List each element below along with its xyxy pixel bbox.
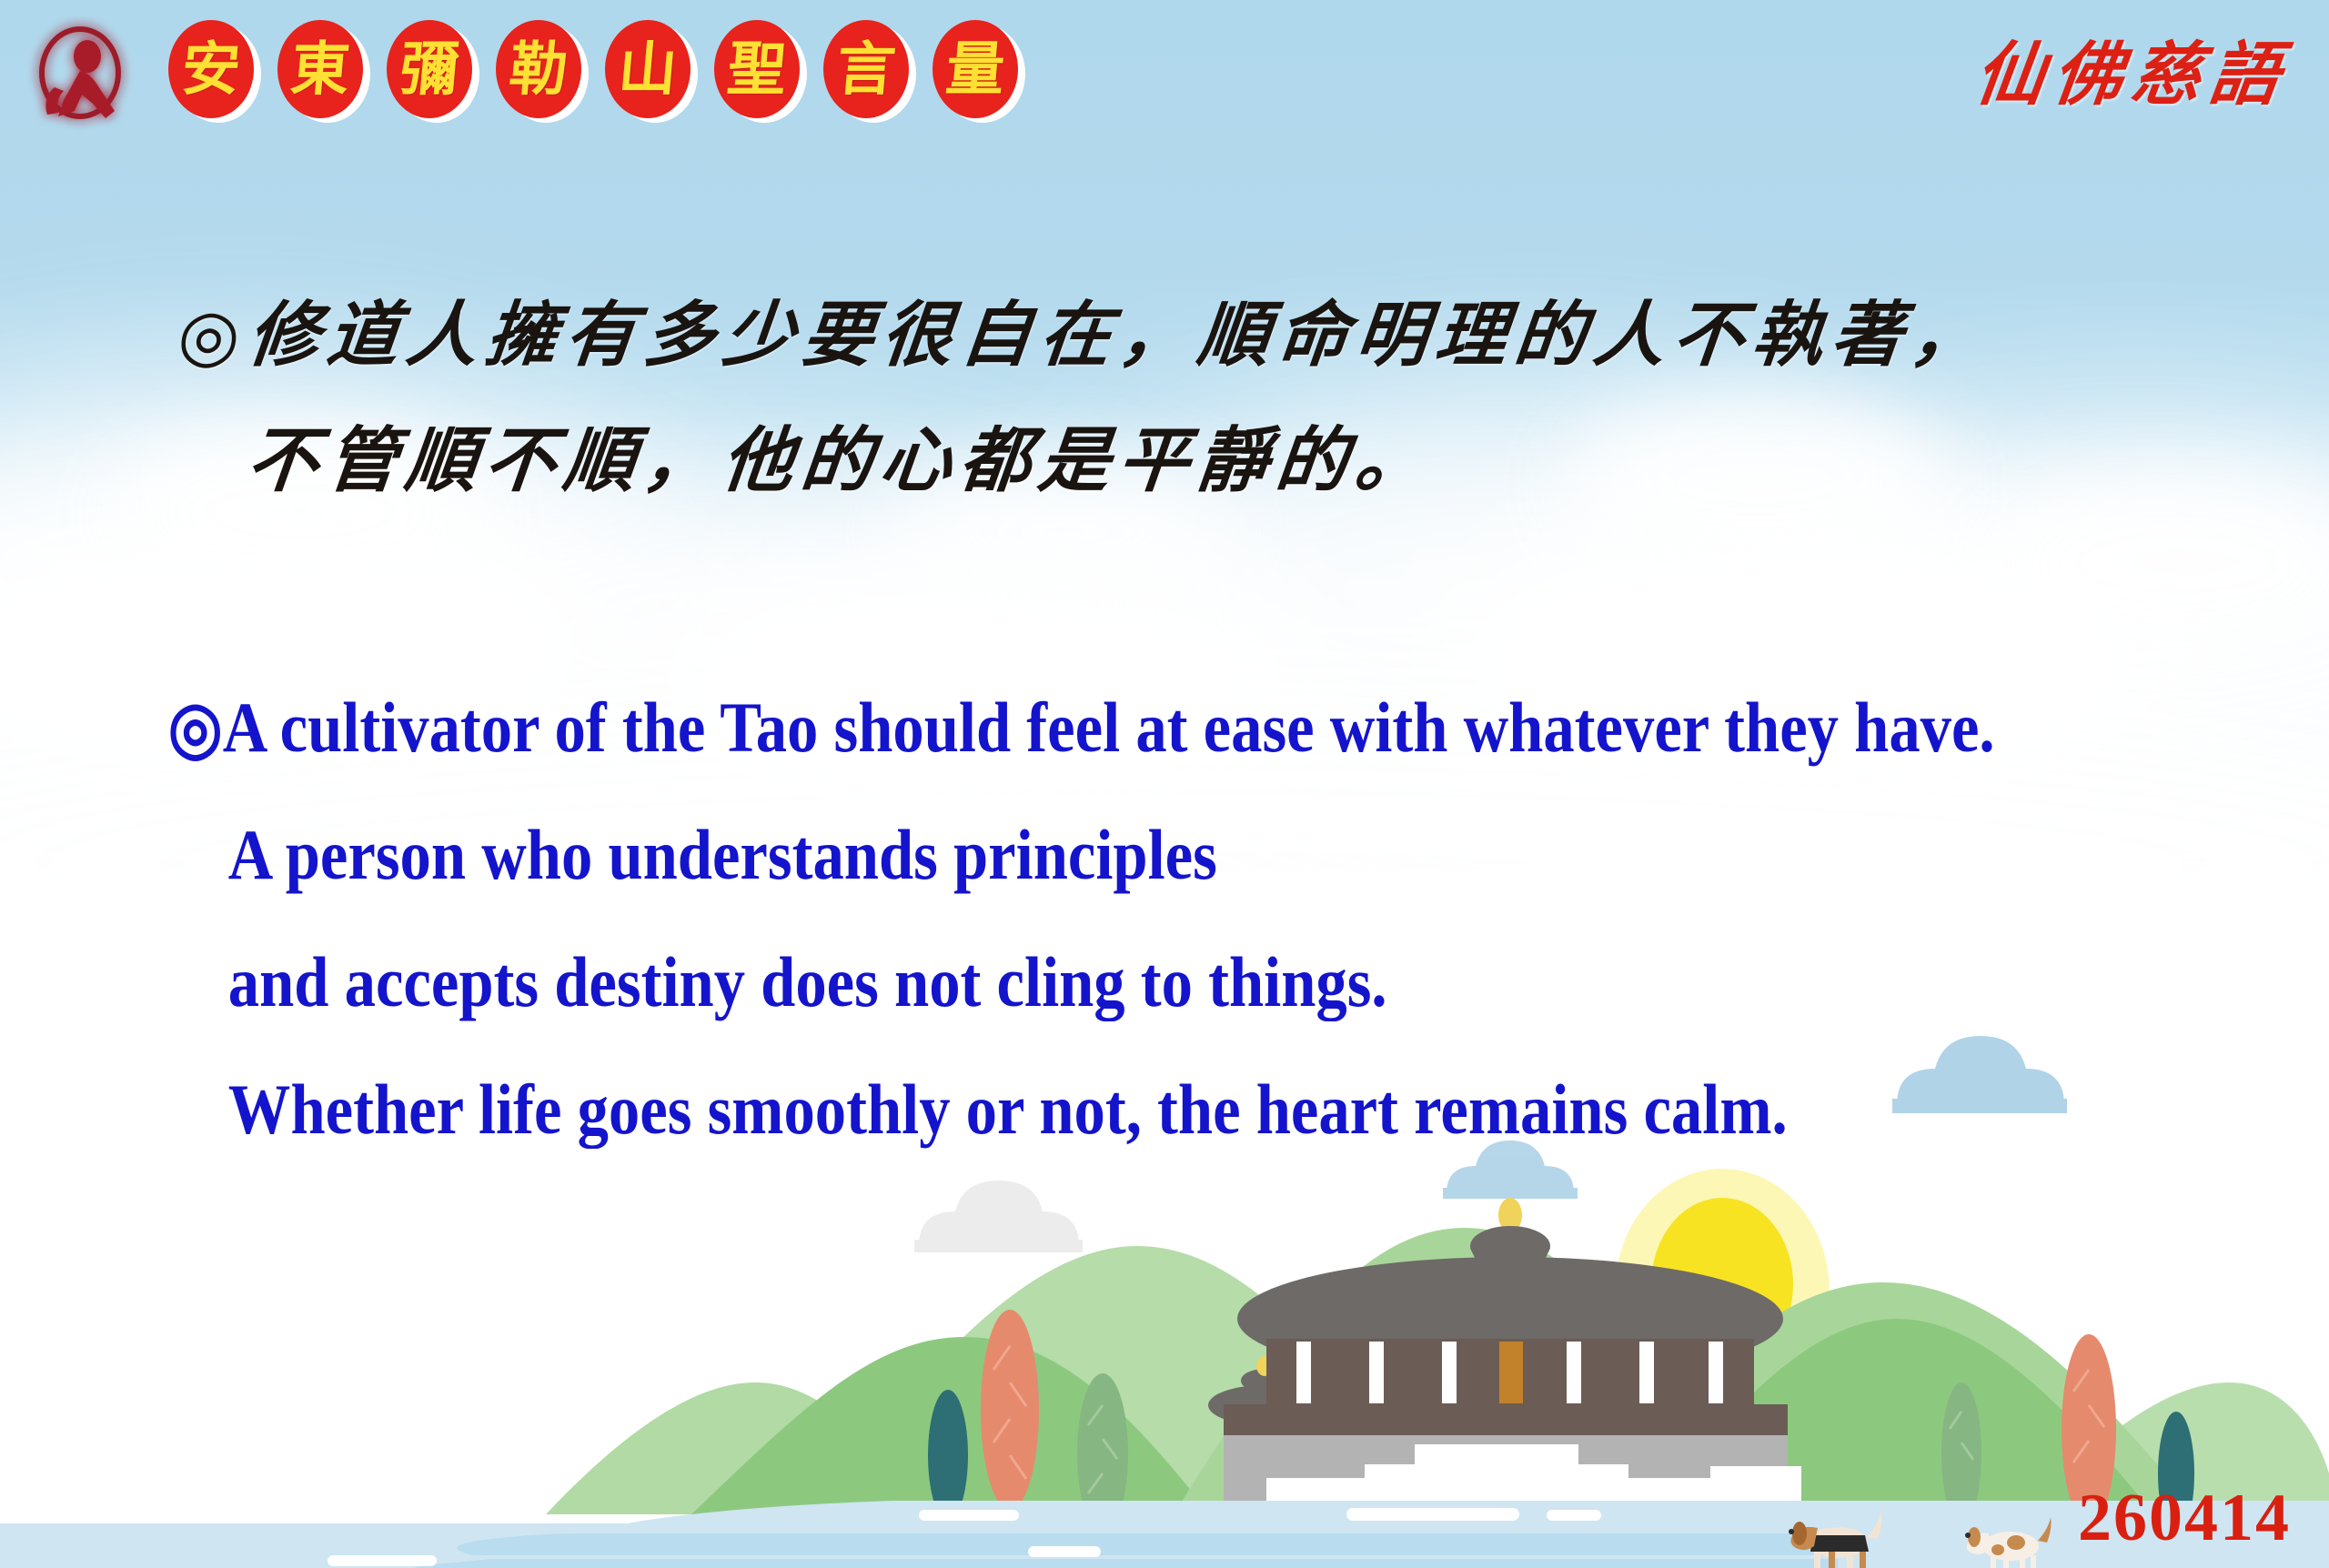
title-badge-group: 安 東 彌 勒 山 聖 言 [168,20,1022,122]
title-badge: 勒 [496,20,585,122]
english-quote-line-2: A person who understands principles [0,791,2050,919]
landscape-illustration [0,1019,2329,1568]
chinese-quote-line-1: ◎修道人擁有多少要很自在，順命明理的人不執著， [0,273,2329,398]
badge-glyph: 安 [179,41,243,99]
title-badge: 言 [823,20,912,122]
badge-glyph: 彌 [398,41,461,99]
english-quote-line-1: ◎A cultivator of the Tao should feel at … [0,664,2050,791]
title-badge: 聖 [714,20,803,122]
cloud-blue-mid [1443,1141,1578,1199]
badge-glyph: 聖 [725,41,789,99]
corner-title: 仙佛慈語 [1970,18,2295,118]
chinese-quote-block: ◎修道人擁有多少要很自在，順命明理的人不執著， 不管順不順，他的心都是平靜的。 [0,273,2329,524]
title-badge: 安 [168,20,257,122]
title-badge: 量 [933,20,1022,122]
header-bar: 安 東 彌 勒 山 聖 言 [0,0,2329,166]
date-stamp: 260414 [2078,1484,2291,1552]
badge-glyph: 量 [943,41,1007,99]
badge-glyph: 山 [616,41,680,99]
title-badge: 彌 [387,20,476,122]
title-badge: 東 [277,20,367,122]
cloud-grey-left [914,1181,1083,1252]
chinese-quote-line-2: 不管順不順，他的心都是平靜的。 [0,398,2329,524]
badge-glyph: 東 [288,41,352,99]
title-badge: 山 [605,20,694,122]
badge-glyph: 言 [834,41,898,99]
slide-root: 安 東 彌 勒 山 聖 言 [0,0,2329,1568]
maitreya-logo-icon [27,16,136,135]
badge-glyph: 勒 [507,41,570,99]
cloud-blue-upper-right [1892,1036,2067,1113]
